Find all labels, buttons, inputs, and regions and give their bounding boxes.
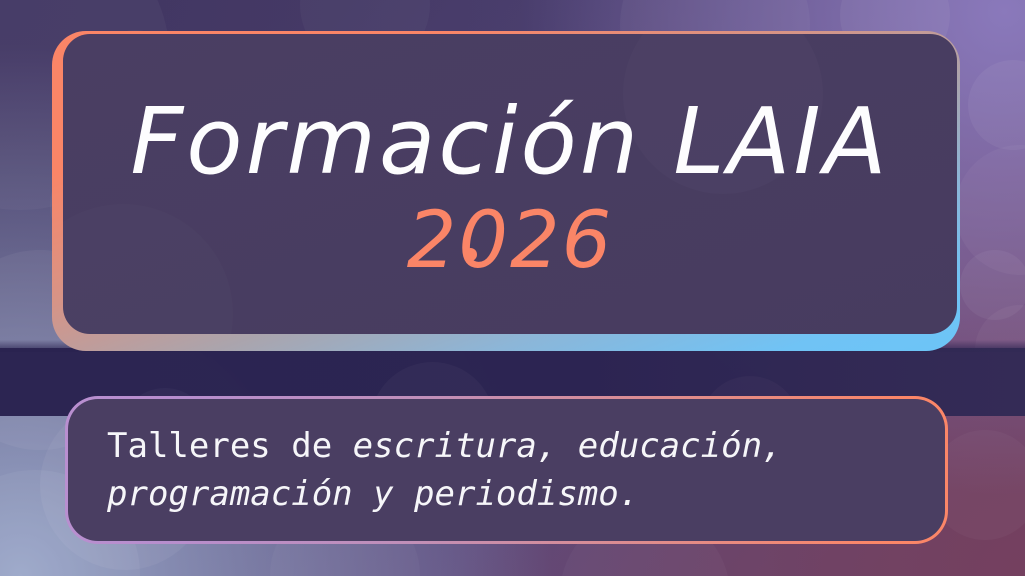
decorative-circle — [63, 204, 233, 334]
subtitle-text: Talleres de escritura, educación,program… — [107, 422, 783, 519]
subtitle-lead: Talleres de — [107, 426, 353, 466]
hero-card-surface: Formación LAIA 2026 — [63, 34, 957, 334]
poster-canvas: Formación LAIA 2026 Talleres de escritur… — [0, 0, 1025, 576]
subtitle-emphasis-line-1: escritura, educación, — [353, 426, 783, 466]
subtitle-card-surface: Talleres de escritura, educación,program… — [68, 399, 945, 541]
poster-title: Formación LAIA — [130, 96, 889, 188]
subtitle-emphasis-line-2: programación y periodismo. — [107, 474, 639, 514]
dotted-zero-icon — [464, 248, 477, 261]
hero-card: Formación LAIA 2026 — [52, 31, 960, 351]
poster-year: 2026 — [407, 202, 614, 280]
poster-year-text: 2026 — [407, 196, 614, 286]
subtitle-card: Talleres de escritura, educación,program… — [65, 396, 948, 544]
